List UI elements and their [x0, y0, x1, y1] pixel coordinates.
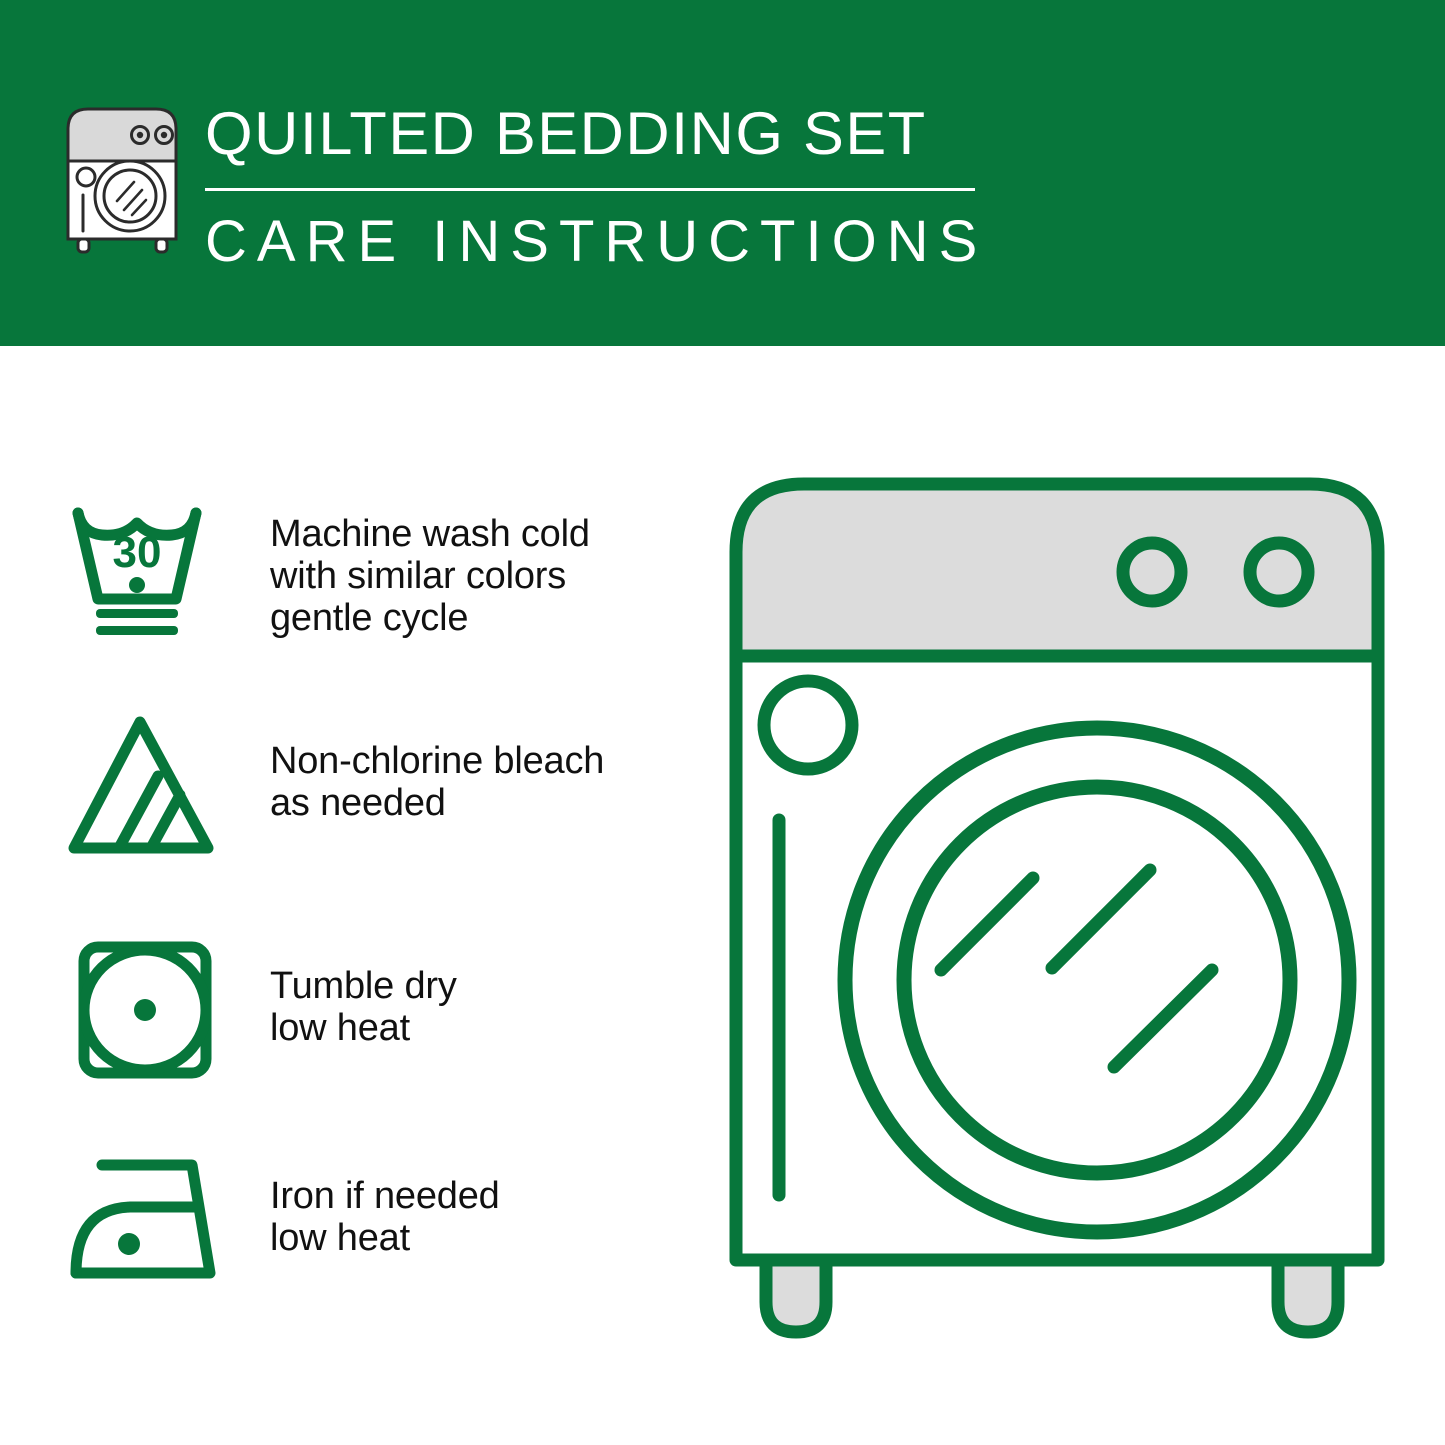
- care-line: with similar colors: [270, 555, 590, 597]
- wash-temperature-value: 30: [113, 528, 162, 577]
- care-instructions-page: QUILTED BEDDING SET CARE INSTRUCTIONS 30…: [0, 0, 1445, 1445]
- care-text-bleach: Non-chlorine bleach as needed: [270, 740, 604, 824]
- header-banner: QUILTED BEDDING SET CARE INSTRUCTIONS: [0, 0, 1445, 346]
- header-text-block: QUILTED BEDDING SET CARE INSTRUCTIONS: [205, 99, 1005, 275]
- care-line: as needed: [270, 782, 604, 824]
- washing-machine-icon: [62, 103, 187, 255]
- care-row-bleach: Non-chlorine bleach as needed: [62, 712, 702, 867]
- non-chlorine-bleach-triangle-icon: [62, 712, 242, 867]
- title-divider: [205, 188, 975, 191]
- care-line: low heat: [270, 1217, 500, 1259]
- care-text-iron: Iron if needed low heat: [270, 1175, 500, 1259]
- page-subtitle: CARE INSTRUCTIONS: [205, 209, 1005, 275]
- care-line: Machine wash cold: [270, 513, 590, 555]
- iron-low-heat-icon: [62, 1145, 242, 1300]
- front-load-washing-machine-illustration: [722, 470, 1392, 1370]
- control-knob-right: [1250, 543, 1308, 601]
- control-knob-left: [1123, 543, 1181, 601]
- care-line: Tumble dry: [270, 965, 457, 1007]
- care-row-machine-wash: 30 Machine wash cold with similar colors…: [62, 495, 702, 650]
- care-line: gentle cycle: [270, 597, 590, 639]
- tumble-dry-low-icon: [62, 935, 242, 1090]
- care-line: Iron if needed: [270, 1175, 500, 1217]
- care-text-tumble-dry: Tumble dry low heat: [270, 965, 457, 1049]
- indicator-light: [764, 681, 852, 769]
- care-row-tumble-dry: Tumble dry low heat: [62, 935, 702, 1090]
- care-text-machine-wash: Machine wash cold with similar colors ge…: [270, 513, 590, 639]
- care-line: Non-chlorine bleach: [270, 740, 604, 782]
- care-row-iron: Iron if needed low heat: [62, 1145, 702, 1300]
- door-inner-ring: [904, 787, 1290, 1173]
- page-title: QUILTED BEDDING SET: [205, 99, 1021, 169]
- care-line: low heat: [270, 1007, 457, 1049]
- wash-tub-30-icon: 30: [62, 495, 242, 650]
